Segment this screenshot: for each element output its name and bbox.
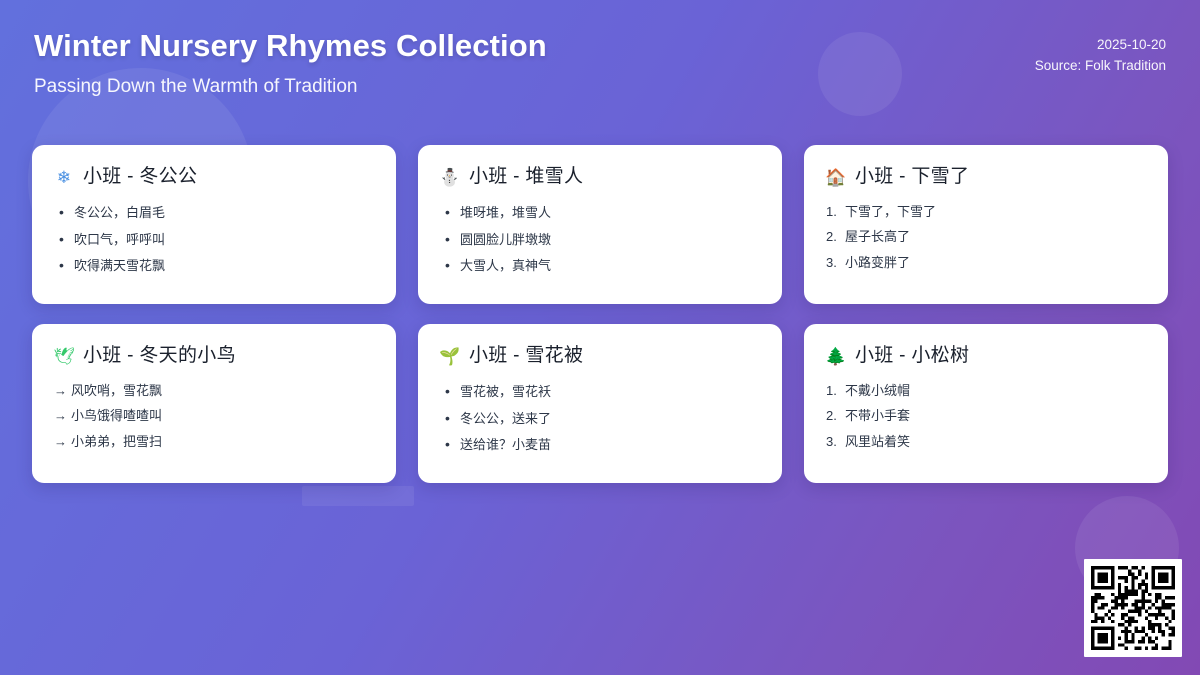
list-marker: 3. — [826, 433, 845, 451]
list-item: 3.小路变胖了 — [826, 250, 1146, 276]
list-item-text: 冬公公，白眉毛 — [74, 204, 374, 222]
list-item: 1.不戴小绒帽 — [826, 378, 1146, 404]
list-item: 3.风里站着笑 — [826, 429, 1146, 455]
card-title: 小班 - 雪花被 — [469, 344, 583, 369]
list-marker: • — [54, 256, 74, 275]
list-item-text: 吹口气，呼呼叫 — [74, 231, 374, 249]
page-title: Winter Nursery Rhymes Collection — [34, 26, 547, 66]
list-marker: • — [54, 203, 74, 222]
list-item-text: 大雪人，真神气 — [460, 257, 760, 275]
card-title: 小班 - 冬公公 — [83, 165, 197, 190]
card-line-list: •雪花被，雪花袄•冬公公，送来了•送给谁？小麦苗 — [440, 378, 760, 459]
list-item-text: 小弟弟，把雪扫 — [71, 433, 374, 451]
list-marker: 2. — [826, 228, 845, 246]
list-marker: • — [440, 230, 460, 249]
list-item-text: 不带小手套 — [845, 407, 1146, 425]
list-item: 2.屋子长高了 — [826, 224, 1146, 250]
card-title: 小班 - 堆雪人 — [469, 165, 583, 190]
rhyme-card-grid: ❄小班 - 冬公公•冬公公，白眉毛•吹口气，呼呼叫•吹得满天雪花飘⛄小班 - 堆… — [32, 145, 1168, 483]
date-label: 2025-10-20 — [1097, 35, 1166, 56]
card-header: 🏠小班 - 下雪了 — [826, 165, 1146, 190]
list-item: •吹得满天雪花飘 — [54, 252, 374, 279]
card-title: 小班 - 小松树 — [855, 344, 969, 369]
card-title: 小班 - 下雪了 — [855, 165, 969, 190]
rhyme-card[interactable]: 🏠小班 - 下雪了1.下雪了，下雪了2.屋子长高了3.小路变胖了 — [804, 145, 1168, 304]
list-marker: • — [440, 435, 460, 454]
list-item: •吹口气，呼呼叫 — [54, 226, 374, 253]
list-item-text: 吹得满天雪花飘 — [74, 257, 374, 275]
list-item: •圆圆脸儿胖墩墩 — [440, 226, 760, 253]
poster-header: Winter Nursery Rhymes Collection Passing… — [0, 0, 1200, 99]
decorative-rectangle — [302, 486, 414, 506]
card-line-list: 1.下雪了，下雪了2.屋子长高了3.小路变胖了 — [826, 199, 1146, 276]
rhyme-card[interactable]: 🌲小班 - 小松树1.不戴小绒帽2.不带小手套3.风里站着笑 — [804, 324, 1168, 483]
list-marker: 2. — [826, 407, 845, 425]
list-item: •大雪人，真神气 — [440, 252, 760, 279]
list-marker: • — [54, 230, 74, 249]
list-marker: • — [440, 382, 460, 401]
list-item: →风吹哨，雪花飘 — [54, 378, 374, 404]
list-item-text: 小鸟饿得喳喳叫 — [71, 407, 374, 425]
card-header: 🌱小班 - 雪花被 — [440, 344, 760, 369]
list-item: 1.下雪了，下雪了 — [826, 199, 1146, 225]
list-item-text: 圆圆脸儿胖墩墩 — [460, 231, 760, 249]
list-item: →小弟弟，把雪扫 — [54, 429, 374, 455]
card-line-list: 1.不戴小绒帽2.不带小手套3.风里站着笑 — [826, 378, 1146, 455]
card-line-list: •堆呀堆，堆雪人•圆圆脸儿胖墩墩•大雪人，真神气 — [440, 199, 760, 280]
list-item: •冬公公，白眉毛 — [54, 199, 374, 226]
rhyme-card[interactable]: ❄小班 - 冬公公•冬公公，白眉毛•吹口气，呼呼叫•吹得满天雪花飘 — [32, 145, 396, 304]
list-item: •堆呀堆，堆雪人 — [440, 199, 760, 226]
list-marker: 3. — [826, 254, 845, 272]
snowflake-icon: ❄ — [54, 169, 74, 186]
rhyme-card[interactable]: 🕊小班 - 冬天的小鸟→风吹哨，雪花飘→小鸟饿得喳喳叫→小弟弟，把雪扫 — [32, 324, 396, 483]
card-line-list: •冬公公，白眉毛•吹口气，呼呼叫•吹得满天雪花飘 — [54, 199, 374, 280]
list-marker: → — [54, 407, 71, 425]
list-item-text: 下雪了，下雪了 — [845, 203, 1146, 221]
list-item-text: 小路变胖了 — [845, 254, 1146, 272]
header-title-group: Winter Nursery Rhymes Collection Passing… — [34, 26, 547, 99]
evergreen-tree-icon: 🌲 — [826, 348, 846, 365]
person-icon: ⛄ — [440, 169, 460, 186]
sprout-icon: 🌱 — [440, 348, 460, 365]
card-header: 🌲小班 - 小松树 — [826, 344, 1146, 369]
bird-icon: 🕊 — [54, 348, 74, 365]
source-label: Source: Folk Tradition — [1035, 56, 1166, 77]
house-icon: 🏠 — [826, 169, 846, 186]
qr-code-image — [1091, 566, 1175, 650]
list-item: →小鸟饿得喳喳叫 — [54, 403, 374, 429]
card-line-list: →风吹哨，雪花飘→小鸟饿得喳喳叫→小弟弟，把雪扫 — [54, 378, 374, 455]
list-marker: 1. — [826, 382, 845, 400]
card-header: ⛄小班 - 堆雪人 — [440, 165, 760, 190]
card-header: ❄小班 - 冬公公 — [54, 165, 374, 190]
list-item-text: 风里站着笑 — [845, 433, 1146, 451]
list-item: •送给谁？小麦苗 — [440, 431, 760, 458]
list-marker: → — [54, 382, 71, 400]
list-item-text: 堆呀堆，堆雪人 — [460, 204, 760, 222]
rhyme-card[interactable]: ⛄小班 - 堆雪人•堆呀堆，堆雪人•圆圆脸儿胖墩墩•大雪人，真神气 — [418, 145, 782, 304]
card-title: 小班 - 冬天的小鸟 — [83, 344, 236, 369]
list-item-text: 风吹哨，雪花飘 — [71, 382, 374, 400]
list-item-text: 屋子长高了 — [845, 228, 1146, 246]
list-item: •冬公公，送来了 — [440, 405, 760, 432]
list-item: •雪花被，雪花袄 — [440, 378, 760, 405]
card-header: 🕊小班 - 冬天的小鸟 — [54, 344, 374, 369]
header-meta-group: 2025-10-20 Source: Folk Tradition — [1035, 26, 1166, 77]
list-marker: • — [440, 256, 460, 275]
page-subtitle: Passing Down the Warmth of Tradition — [34, 75, 547, 100]
qr-code[interactable] — [1084, 559, 1182, 657]
list-item-text: 雪花被，雪花袄 — [460, 383, 760, 401]
list-item-text: 送给谁？小麦苗 — [460, 436, 760, 454]
list-item: 2.不带小手套 — [826, 403, 1146, 429]
list-item-text: 冬公公，送来了 — [460, 410, 760, 428]
rhyme-card[interactable]: 🌱小班 - 雪花被•雪花被，雪花袄•冬公公，送来了•送给谁？小麦苗 — [418, 324, 782, 483]
list-marker: • — [440, 409, 460, 428]
poster-canvas: Winter Nursery Rhymes Collection Passing… — [0, 0, 1200, 675]
list-marker: 1. — [826, 203, 845, 221]
list-item-text: 不戴小绒帽 — [845, 382, 1146, 400]
list-marker: → — [54, 433, 71, 451]
list-marker: • — [440, 203, 460, 222]
